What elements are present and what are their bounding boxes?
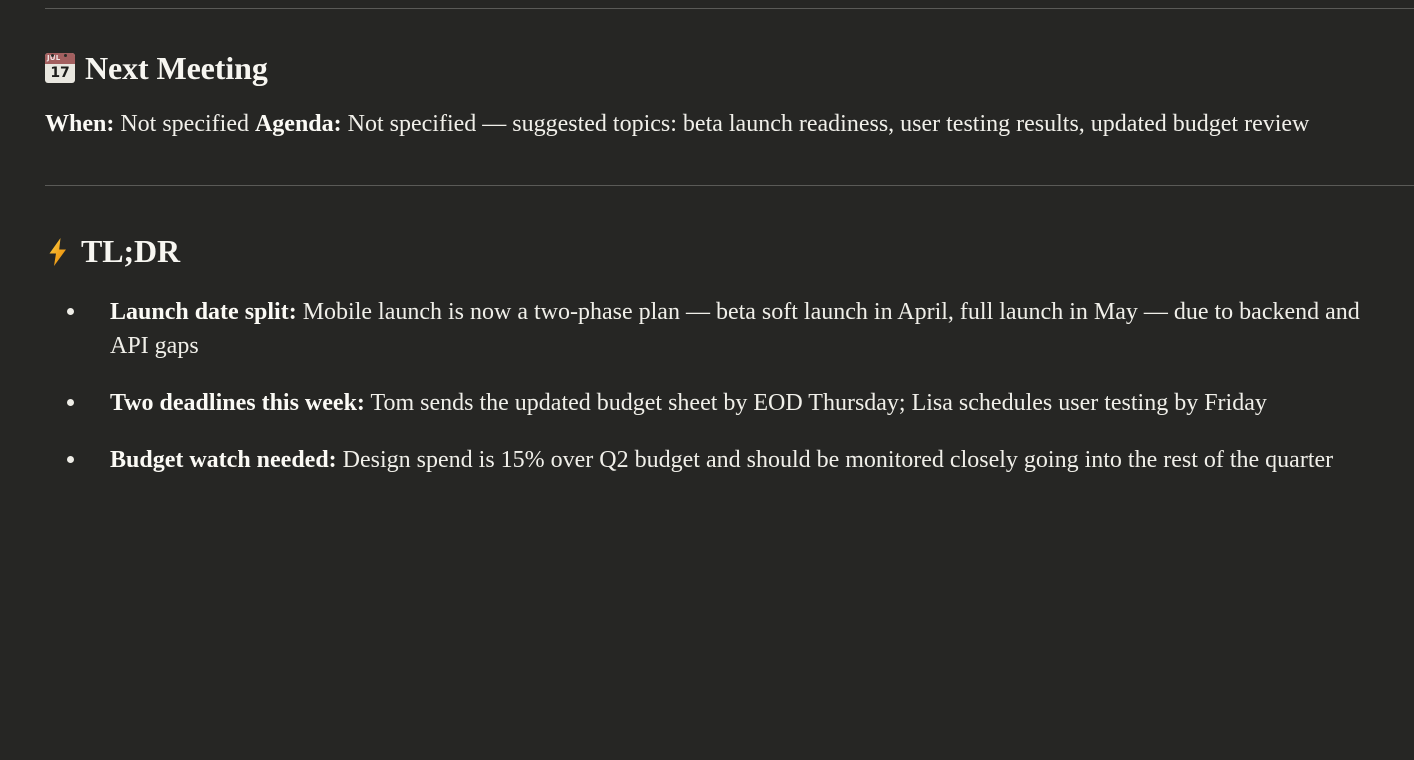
spacer [0, 9, 1414, 49]
tldr-bullet-list: Launch date split: Mobile launch is now … [45, 295, 1393, 477]
spacer [0, 186, 1414, 232]
agenda-value: Not specified — suggested topics: beta l… [348, 111, 1310, 137]
list-item-label: Launch date split: [110, 299, 297, 325]
agenda-label: Agenda: [255, 111, 342, 137]
tldr-heading-text: TL;DR [81, 232, 180, 270]
list-item-text: Tom sends the updated budget sheet by EO… [370, 390, 1266, 416]
bullet-dot [67, 308, 74, 315]
section-next-meeting: JUL 17 Next Meeting When: Not specified … [0, 49, 1414, 141]
lightning-bolt-icon [45, 237, 71, 267]
when-label: When: [45, 111, 114, 137]
section-tldr: TL;DR Launch date split: Mobile launch i… [0, 232, 1414, 477]
next-meeting-heading: JUL 17 Next Meeting [45, 49, 1394, 87]
bullet-dot [67, 456, 74, 463]
calendar-day-label: 17 [45, 64, 75, 83]
calendar-icon: JUL 17 [45, 53, 75, 83]
list-item-label: Two deadlines this week: [110, 390, 365, 416]
spacer [45, 271, 1394, 295]
spacer [45, 87, 1394, 107]
list-item-text: Design spend is 15% over Q2 budget and s… [343, 447, 1333, 473]
next-meeting-details: When: Not specified Agenda: Not specifie… [45, 107, 1393, 141]
list-item: Two deadlines this week: Tom sends the u… [45, 386, 1393, 420]
spacer [0, 141, 1414, 185]
bullet-dot [67, 399, 74, 406]
list-item: Launch date split: Mobile launch is now … [45, 295, 1393, 363]
next-meeting-heading-text: Next Meeting [85, 49, 268, 87]
when-value: Not specified [120, 111, 249, 137]
tldr-heading: TL;DR [45, 232, 1394, 270]
list-item-label: Budget watch needed: [110, 447, 337, 473]
document-page: JUL 17 Next Meeting When: Not specified … [0, 8, 1414, 760]
list-item: Budget watch needed: Design spend is 15%… [45, 443, 1393, 477]
